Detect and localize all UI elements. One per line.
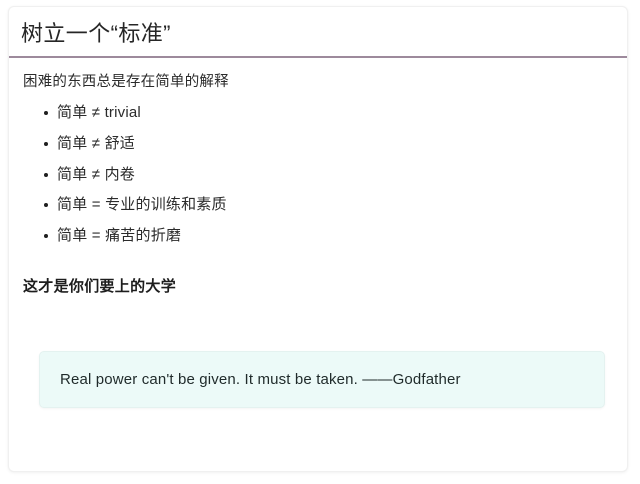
bullet-dot-icon xyxy=(44,203,48,207)
list-item: 简单 ≠ trivial xyxy=(23,103,613,134)
list-item-label: 简单 = 痛苦的折磨 xyxy=(57,227,181,244)
slide-card: 树立一个“标准” 困难的东西总是存在简单的解释 简单 ≠ trivial 简单 … xyxy=(8,6,628,472)
bullet-list: 简单 ≠ trivial 简单 ≠ 舒适 简单 ≠ 内卷 简单 = 专业的训练和… xyxy=(23,92,613,256)
bullet-dot-icon xyxy=(44,111,48,115)
list-item: 简单 = 痛苦的折磨 xyxy=(23,226,613,257)
emphasis-text: 这才是你们要上的大学 xyxy=(23,257,613,296)
bullet-dot-icon xyxy=(44,234,48,238)
list-item: 简单 ≠ 舒适 xyxy=(23,134,613,165)
list-item-label: 简单 ≠ trivial xyxy=(57,104,141,121)
list-item-label: 简单 = 专业的训练和素质 xyxy=(57,196,227,213)
bullet-dot-icon xyxy=(44,142,48,146)
list-item-label: 简单 ≠ 舒适 xyxy=(57,135,135,152)
list-item: 简单 ≠ 内卷 xyxy=(23,165,613,196)
quote-text: Real power can't be given. It must be ta… xyxy=(40,371,461,388)
list-item: 简单 = 专业的训练和素质 xyxy=(23,195,613,226)
bullet-dot-icon xyxy=(44,173,48,177)
page-title: 树立一个“标准” xyxy=(21,7,615,56)
list-item-label: 简单 ≠ 内卷 xyxy=(57,166,135,183)
lead-paragraph: 困难的东西总是存在简单的解释 xyxy=(23,58,613,92)
quote-callout: Real power can't be given. It must be ta… xyxy=(39,351,605,408)
